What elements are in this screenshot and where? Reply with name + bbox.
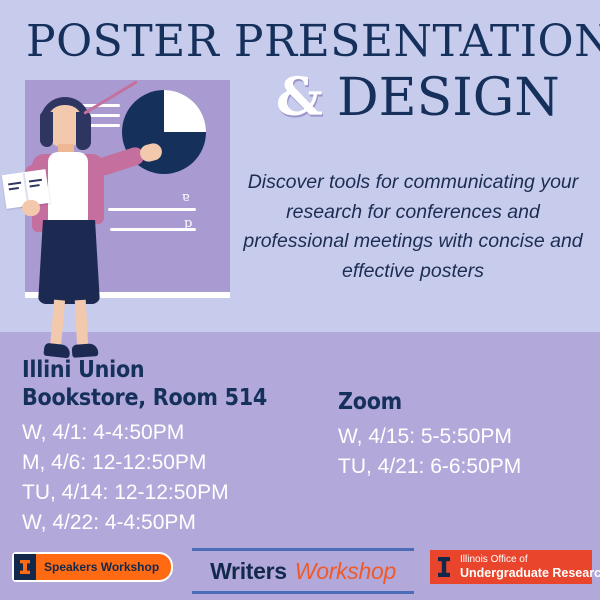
logo-undergraduate-research[interactable]: Illinois Office of Undergraduate Researc… <box>430 550 592 584</box>
page-title-line-2: &DESIGN <box>276 72 560 124</box>
right-leg <box>75 300 88 349</box>
venue-heading: Illini Union Bookstore, Room 514 <box>22 356 310 412</box>
book-line-4 <box>30 184 40 187</box>
skirt <box>38 220 100 304</box>
venue-heading-line: Zoom <box>338 388 563 416</box>
book-line-3 <box>29 179 42 182</box>
page-title-line-1: POSTER PRESENTATION <box>26 20 586 64</box>
torso-top <box>48 152 88 226</box>
logo-our-line-1: Illinois Office of <box>460 554 600 565</box>
illustration: a d <box>0 72 232 362</box>
illinois-block-i-icon <box>434 554 454 580</box>
logo-our-line-2: Undergraduate Research <box>460 566 600 580</box>
left-leg <box>50 300 65 349</box>
illinois-block-i-icon <box>14 554 36 580</box>
venue-zoom: Zoom W, 4/15: 5-5:50PM TU, 4/21: 6-6:50P… <box>338 388 588 482</box>
session-item: M, 4/6: 12-12:50PM <box>22 448 342 478</box>
board-mark-d: d <box>184 216 192 231</box>
poster-canvas: POSTER PRESENTATION &DESIGN Discover too… <box>0 0 600 600</box>
footer-logos: Speakers Workshop Writers Workshop Illin… <box>0 548 600 600</box>
session-list: W, 4/15: 5-5:50PM TU, 4/21: 6-6:50PM <box>338 422 588 482</box>
page-title-design: DESIGN <box>337 68 560 128</box>
logo-writers-bold: Writers <box>210 558 287 585</box>
logo-speakers-workshop-label: Speakers Workshop <box>36 560 171 574</box>
logo-our-text: Illinois Office of Undergraduate Researc… <box>460 554 600 579</box>
description-text: Discover tools for communicating your re… <box>232 168 594 287</box>
board-line-4 <box>108 208 196 211</box>
venue-illini-union: Illini Union Bookstore, Room 514 W, 4/1:… <box>22 356 342 537</box>
book-line-2 <box>9 187 19 190</box>
logo-writers-italic: Workshop <box>295 558 396 585</box>
session-item: TU, 4/14: 12-12:50PM <box>22 478 342 508</box>
hair-right <box>76 112 91 150</box>
logo-writers-workshop[interactable]: Writers Workshop <box>192 548 414 594</box>
session-list: W, 4/1: 4-4:50PM M, 4/6: 12-12:50PM TU, … <box>22 418 342 537</box>
venue-heading-line: Illini Union <box>22 356 310 384</box>
venue-heading: Zoom <box>338 388 563 416</box>
book-line-1 <box>8 182 21 185</box>
ampersand-glyph: & <box>276 67 323 128</box>
board-mark-a: a <box>182 190 190 205</box>
hair-left <box>40 112 53 147</box>
session-item: W, 4/22: 4-4:50PM <box>22 508 342 538</box>
venue-heading-line: Bookstore, Room 514 <box>22 384 310 412</box>
session-item: W, 4/1: 4-4:50PM <box>22 418 342 448</box>
logo-speakers-workshop[interactable]: Speakers Workshop <box>12 552 173 582</box>
session-item: W, 4/15: 5-5:50PM <box>338 422 588 452</box>
left-hand <box>22 200 40 216</box>
session-item: TU, 4/21: 6-6:50PM <box>338 452 588 482</box>
